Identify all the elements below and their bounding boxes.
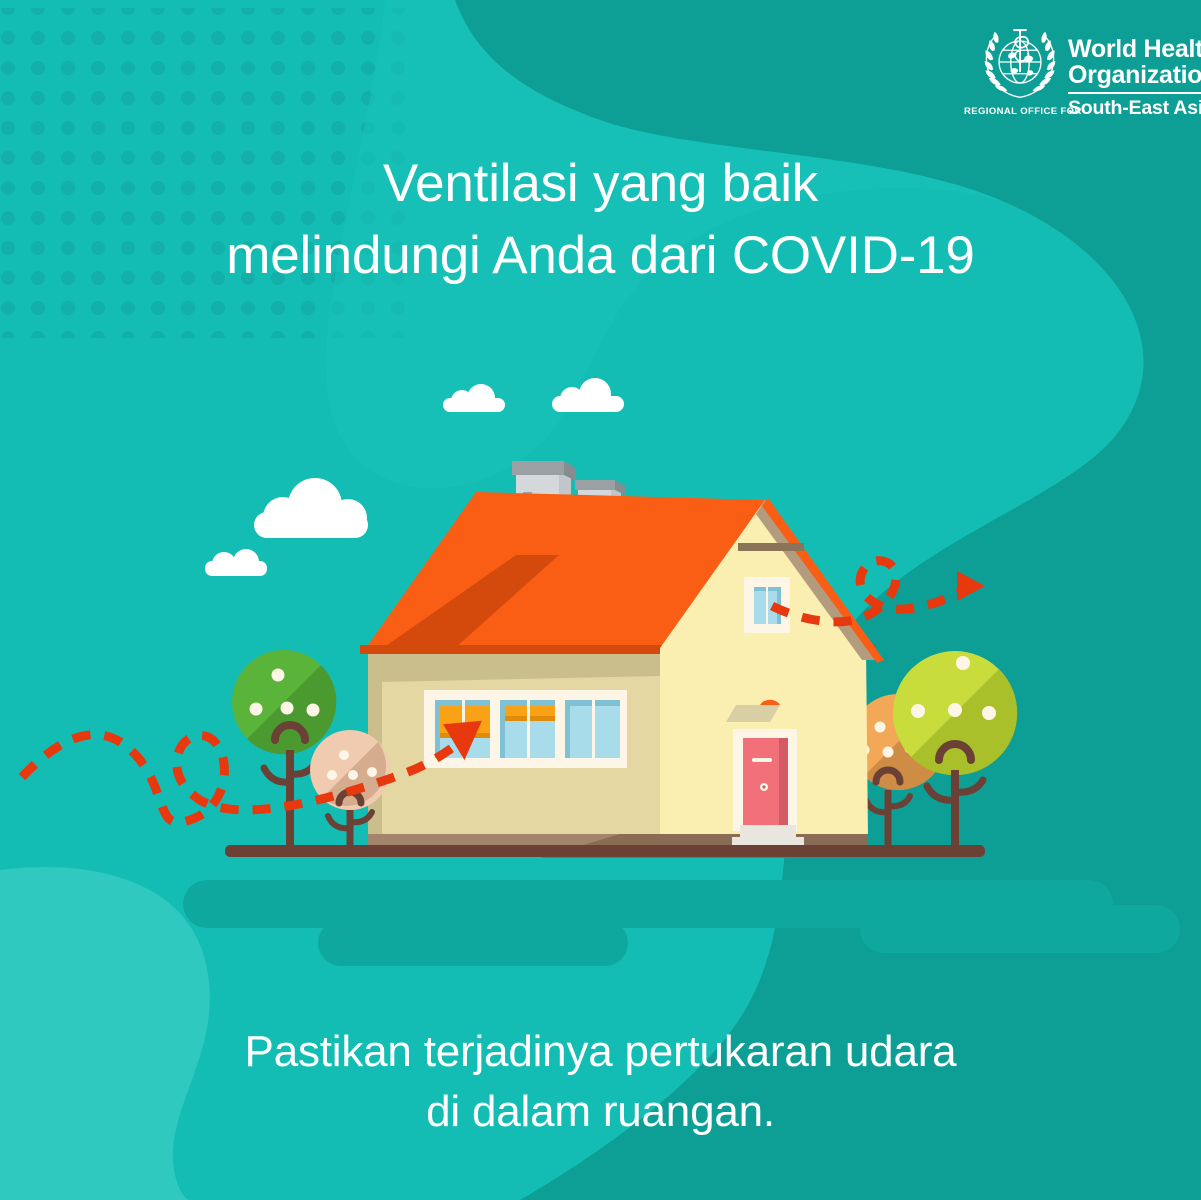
who-line-1: World Health — [1068, 36, 1201, 62]
page-headline: Ventilasi yang baik melindungi Anda dari… — [0, 148, 1201, 292]
who-regional-label: REGIONAL OFFICE FOR — [964, 106, 1082, 117]
who-wordmark: World Health Organization REGIONAL OFFIC… — [1068, 14, 1201, 120]
headline-line-1: Ventilasi yang baik — [0, 148, 1201, 220]
who-region-name: South-East Asia — [1068, 97, 1201, 119]
who-line-2: Organization — [1068, 62, 1201, 88]
caption-line-2: di dalam ruangan. — [0, 1082, 1201, 1142]
who-divider — [1068, 92, 1201, 94]
who-logo: World Health Organization REGIONAL OFFIC… — [978, 14, 1190, 110]
poster-canvas: World Health Organization REGIONAL OFFIC… — [0, 0, 1201, 1200]
headline-line-2: melindungi Anda dari COVID-19 — [0, 220, 1201, 292]
who-emblem-icon — [978, 14, 1062, 110]
caption-line-1: Pastikan terjadinya pertukaran udara — [0, 1022, 1201, 1082]
who-subline-wrap: REGIONAL OFFICE FOR South-East Asia — [1068, 97, 1201, 120]
page-caption: Pastikan terjadinya pertukaran udara di … — [0, 1022, 1201, 1142]
